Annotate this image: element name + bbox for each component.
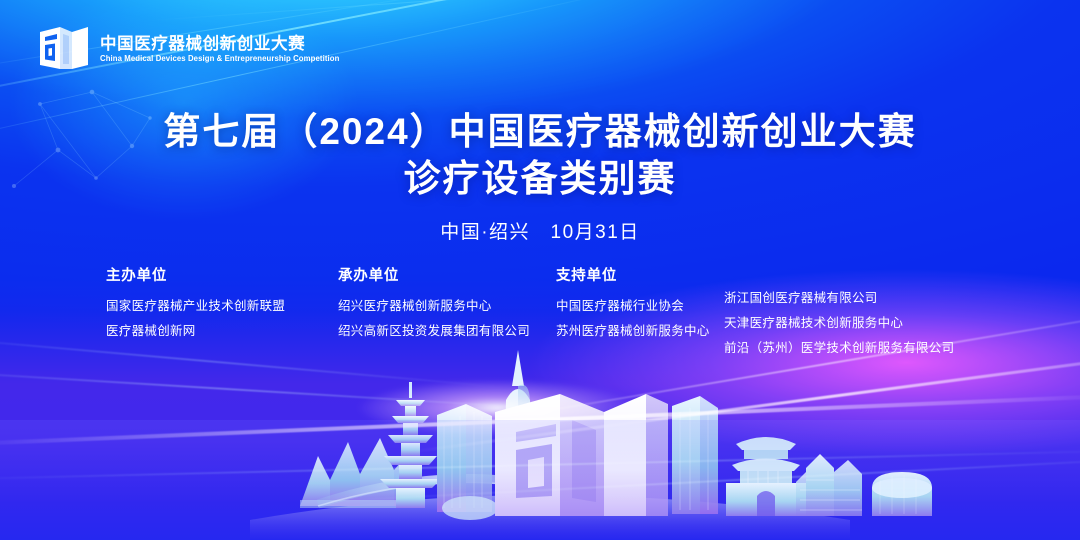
- organizer-column-supporter-extra: 浙江国创医疗器械有限公司 天津医疗器械技术创新服务中心 前沿（苏州）医学技术创新…: [724, 264, 974, 361]
- organizer-item: 中国医疗器械行业协会: [556, 294, 724, 319]
- poster-banner: 中国医疗器械创新创业大赛 China Medical Devices Desig…: [0, 0, 1080, 540]
- organizer-item: 苏州医疗器械创新服务中心: [556, 319, 724, 344]
- organizer-item: 前沿（苏州）医学技术创新服务有限公司: [724, 336, 974, 361]
- organizer-item: 医疗器械创新网: [106, 319, 338, 344]
- event-location-date: 中国·绍兴 10月31日: [0, 217, 1080, 244]
- organizer-heading: 主办单位: [106, 264, 338, 285]
- poster-title-block: 第七届（2024）中国医疗器械创新创业大赛 诊疗设备类别赛 中国·绍兴 10月3…: [0, 108, 1080, 244]
- open-book-door-emblem-icon: [38, 24, 90, 72]
- organizer-item: 天津医疗器械技术创新服务中心: [724, 311, 974, 336]
- title-line-2: 诊疗设备类别赛: [0, 155, 1080, 202]
- title-line-1: 第七届（2024）中国医疗器械创新创业大赛: [0, 108, 1080, 155]
- organizer-heading: 支持单位: [556, 264, 724, 285]
- logo-english-name: China Medical Devices Design & Entrepren…: [100, 55, 339, 63]
- organizer-item: 绍兴医疗器械创新服务中心: [338, 294, 556, 319]
- organizer-column-undertaker: 承办单位 绍兴医疗器械创新服务中心 绍兴高新区投资发展集团有限公司: [338, 264, 556, 344]
- organizer-heading: 承办单位: [338, 264, 556, 285]
- organizer-section: 主办单位 国家医疗器械产业技术创新联盟 医疗器械创新网 承办单位 绍兴医疗器械创…: [0, 264, 1080, 361]
- organizer-column-host: 主办单位 国家医疗器械产业技术创新联盟 医疗器械创新网: [106, 264, 338, 344]
- organizer-item: 浙江国创医疗器械有限公司: [724, 286, 974, 311]
- organizer-item: 绍兴高新区投资发展集团有限公司: [338, 319, 556, 344]
- foreground-floor-sheen: [0, 420, 1080, 540]
- organizer-column-supporter: 支持单位 中国医疗器械行业协会 苏州医疗器械创新服务中心: [556, 264, 724, 344]
- logo-chinese-name: 中国医疗器械创新创业大赛: [100, 36, 347, 53]
- competition-logo: 中国医疗器械创新创业大赛 China Medical Devices Desig…: [38, 24, 347, 72]
- organizer-item: 国家医疗器械产业技术创新联盟: [106, 294, 338, 319]
